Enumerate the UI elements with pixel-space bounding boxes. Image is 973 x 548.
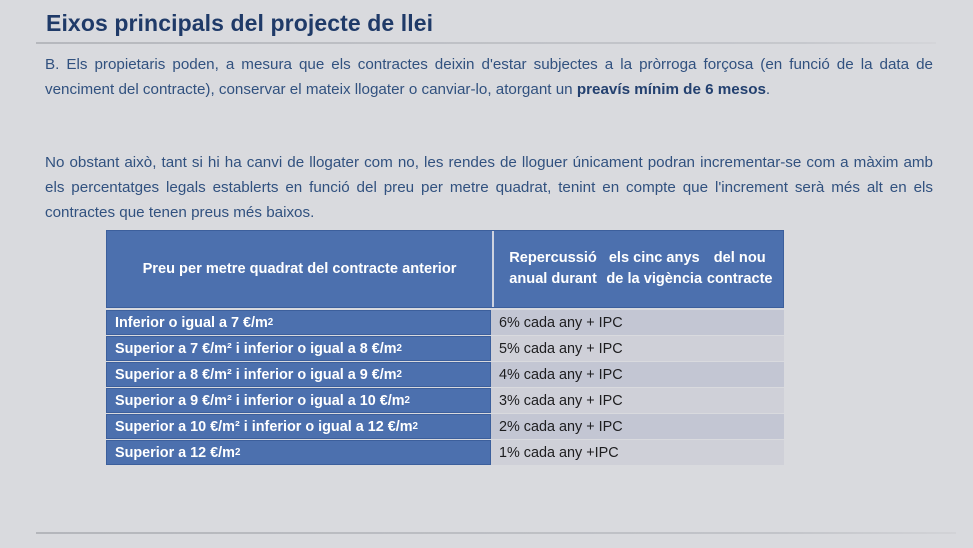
paragraph-b-text-2: . <box>766 81 770 98</box>
table-cell-price-range: Superior a 7 €/m² i inferior o igual a 8… <box>106 336 491 361</box>
table-row: Superior a 12 €/m2 1% cada any +IPC <box>106 440 784 465</box>
table-row: Superior a 9 €/m² i inferior o igual a 1… <box>106 388 784 413</box>
table-cell-increment: 2% cada any + IPC <box>491 414 784 439</box>
title-divider <box>36 42 936 44</box>
table-cell-price-range: Superior a 10 €/m² i inferior o igual a … <box>106 414 491 439</box>
table-cell-increment: 3% cada any + IPC <box>491 388 784 413</box>
table-cell-price-range: Superior a 12 €/m2 <box>106 440 491 465</box>
rent-increment-table: Preu per metre quadrat del contracte ant… <box>106 230 784 465</box>
table-cell-increment: 6% cada any + IPC <box>491 310 784 335</box>
table-cell-price-range-text: Superior a 8 €/m² i inferior o igual a 9… <box>115 367 397 383</box>
table-cell-price-range: Superior a 8 €/m² i inferior o igual a 9… <box>106 362 491 387</box>
table-header-row: Preu per metre quadrat del contracte ant… <box>106 230 784 308</box>
table-row: Superior a 10 €/m² i inferior o igual a … <box>106 414 784 439</box>
table-cell-price-range-text: Inferior o igual a 7 €/m <box>115 315 268 331</box>
slide-canvas: Eixos principals del projecte de llei B.… <box>0 0 973 548</box>
table-header-increment-column: Repercussió anual durant els cinc anys d… <box>494 231 783 307</box>
table-cell-price-range-text: Superior a 10 €/m² i inferior o igual a … <box>115 419 413 435</box>
paragraph-b: B. Els propietaris poden, a mesura que e… <box>45 52 933 102</box>
table-header-increment-line-3: del nou contracte <box>706 248 773 290</box>
paragraph-increments: No obstant això, tant si hi ha canvi de … <box>45 150 933 225</box>
table-cell-price-range: Superior a 9 €/m² i inferior o igual a 1… <box>106 388 491 413</box>
table-cell-increment: 4% cada any + IPC <box>491 362 784 387</box>
table-cell-price-range-text: Superior a 7 €/m² i inferior o igual a 8… <box>115 341 397 357</box>
table-cell-price-range: Inferior o igual a 7 €/m2 <box>106 310 491 335</box>
table-header-increment-line-1: Repercussió anual durant <box>504 248 602 290</box>
table-body: Inferior o igual a 7 €/m2 6% cada any + … <box>106 310 784 465</box>
table-header-price-column: Preu per metre quadrat del contracte ant… <box>107 231 494 307</box>
table-row: Inferior o igual a 7 €/m2 6% cada any + … <box>106 310 784 335</box>
page-title: Eixos principals del projecte de llei <box>46 10 433 37</box>
table-cell-increment: 5% cada any + IPC <box>491 336 784 361</box>
paragraph-b-emphasis: preavís mínim de 6 mesos <box>577 81 766 98</box>
table-row: Superior a 8 €/m² i inferior o igual a 9… <box>106 362 784 387</box>
table-cell-price-range-text: Superior a 12 €/m <box>115 445 235 461</box>
bottom-divider <box>36 532 956 534</box>
table-cell-increment: 1% cada any +IPC <box>491 440 784 465</box>
paragraph-b-text-1: B. Els propietaris poden, a mesura que e… <box>45 56 933 98</box>
table-header-increment-line-2: els cinc anys de la vigència <box>602 248 706 290</box>
table-row: Superior a 7 €/m² i inferior o igual a 8… <box>106 336 784 361</box>
table-cell-price-range-text: Superior a 9 €/m² i inferior o igual a 1… <box>115 393 405 409</box>
